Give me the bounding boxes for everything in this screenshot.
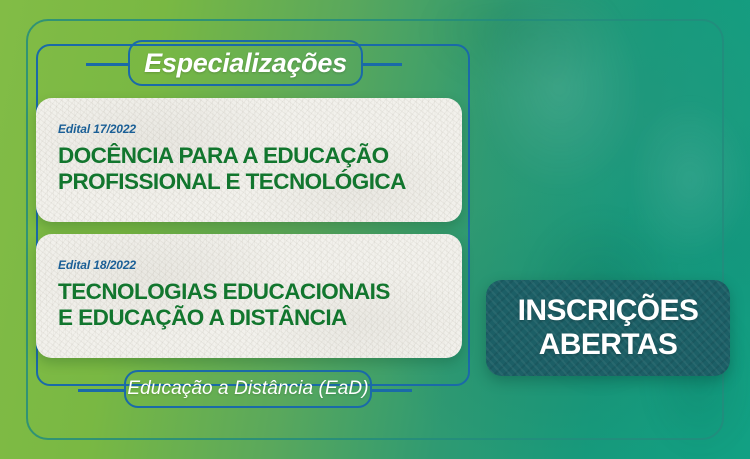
connector-line-bottom-left [78, 389, 124, 392]
course-title: DOCÊNCIA PARA A EDUCAÇÃO PROFISSIONAL E … [58, 143, 462, 196]
course-title-line: PROFISSIONAL E TECNOLÓGICA [58, 169, 462, 195]
status-badge-inscricoes-abertas[interactable]: INSCRIÇÕES ABERTAS [486, 280, 730, 376]
course-card-content: Edital 18/2022 TECNOLOGIAS EDUCACIONAIS … [36, 234, 462, 332]
course-card-content: Edital 17/2022 DOCÊNCIA PARA A EDUCAÇÃO … [36, 98, 462, 196]
connector-line-top-right [362, 63, 402, 66]
course-card[interactable]: Edital 18/2022 TECNOLOGIAS EDUCACIONAIS … [36, 234, 462, 358]
course-edital-label: Edital 18/2022 [58, 258, 462, 272]
modality-label-ead: Educação a Distância (EaD) [124, 370, 372, 408]
connector-line-top-left [86, 63, 128, 66]
connector-line-bottom-right [372, 389, 412, 392]
course-edital-label: Edital 17/2022 [58, 122, 462, 136]
course-title-line: DOCÊNCIA PARA A EDUCAÇÃO [58, 143, 462, 169]
course-title: TECNOLOGIAS EDUCACIONAIS E EDUCAÇÃO A DI… [58, 279, 462, 332]
status-badge-text: INSCRIÇÕES ABERTAS [518, 294, 699, 361]
course-title-line: E EDUCAÇÃO A DISTÂNCIA [58, 305, 462, 331]
promotional-banner: Especializações Edital 17/2022 DOCÊNCIA … [0, 0, 750, 459]
status-badge-line: INSCRIÇÕES [518, 294, 699, 328]
status-badge-line: ABERTAS [518, 328, 699, 362]
course-card[interactable]: Edital 17/2022 DOCÊNCIA PARA A EDUCAÇÃO … [36, 98, 462, 222]
section-label-especializacoes: Especializações [128, 40, 363, 86]
course-title-line: TECNOLOGIAS EDUCACIONAIS [58, 279, 462, 305]
